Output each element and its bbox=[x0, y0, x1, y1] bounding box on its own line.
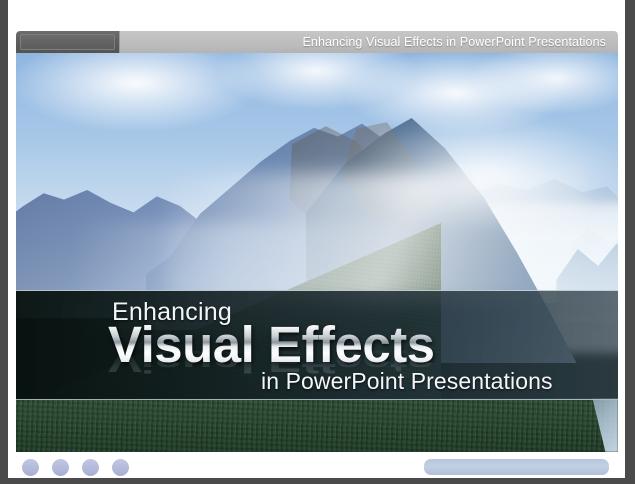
title-headline: Visual Effects bbox=[108, 319, 435, 370]
presentation-window: Enhancing Visual Effects in PowerPoint P… bbox=[0, 0, 635, 484]
window-frame-left bbox=[0, 0, 8, 484]
header-title: Enhancing Visual Effects in PowerPoint P… bbox=[302, 31, 606, 53]
nav-dot-4[interactable] bbox=[112, 459, 129, 476]
nav-dot-2[interactable] bbox=[52, 459, 69, 476]
bottom-forest-texture bbox=[16, 398, 618, 452]
nav-dot-3[interactable] bbox=[82, 459, 99, 476]
title-subtitle: in PowerPoint Presentations bbox=[261, 368, 553, 395]
header-tab-inner-bevel bbox=[20, 34, 115, 50]
window-frame-bottom bbox=[0, 478, 635, 484]
progress-bar[interactable] bbox=[424, 459, 609, 475]
header-bar: Enhancing Visual Effects in PowerPoint P… bbox=[16, 31, 618, 53]
slide-stage: Enhancing Visual Effects Visual Effects … bbox=[16, 53, 618, 452]
nav-dot-1[interactable] bbox=[22, 459, 39, 476]
mist-upper-layer bbox=[346, 113, 618, 233]
title-band: Enhancing Visual Effects Visual Effects … bbox=[16, 290, 618, 400]
header-tab-button[interactable] bbox=[16, 31, 120, 53]
window-frame-right bbox=[625, 0, 635, 484]
